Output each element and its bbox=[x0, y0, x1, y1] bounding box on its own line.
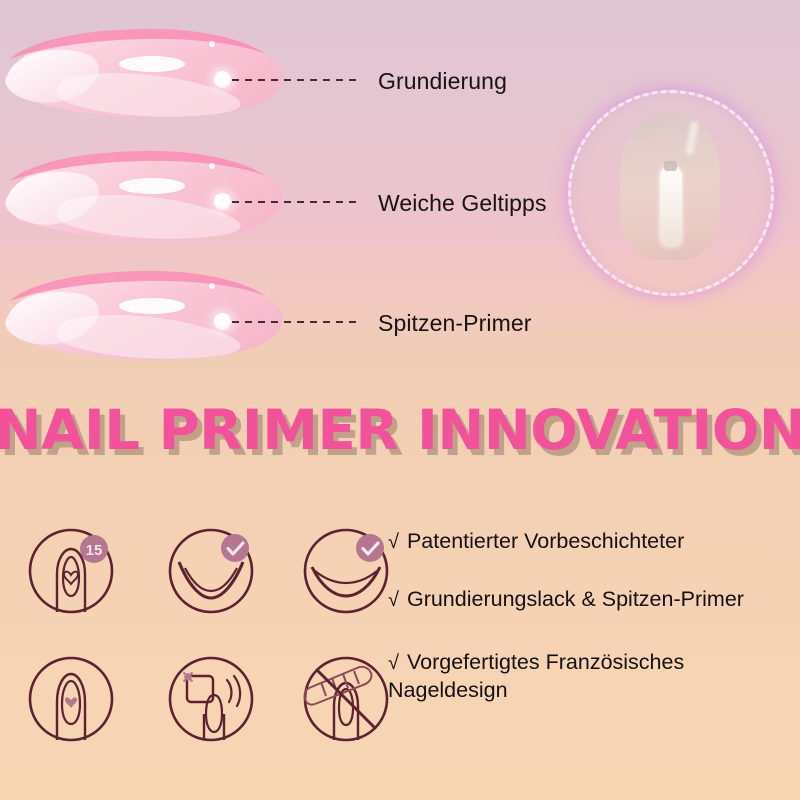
callout-leader-line bbox=[232, 321, 358, 323]
gel-tip-illustration bbox=[0, 18, 290, 128]
no-filing-icon bbox=[301, 654, 391, 744]
check-mark-icon: √ bbox=[388, 652, 399, 674]
flat-tip-check-icon bbox=[301, 526, 391, 616]
callout-leader-line bbox=[232, 201, 358, 203]
bullet-item-3: √ Vorgefertigtes Französisches Nageldesi… bbox=[388, 648, 788, 705]
nail-heart-15-icon: 15 bbox=[26, 526, 116, 616]
callout-dot bbox=[214, 71, 231, 88]
bullet-text: Grundierungslack & Spitzen-Primer bbox=[407, 587, 744, 611]
feature-icon-grid: 15 bbox=[18, 520, 378, 770]
nail-highlight bbox=[660, 165, 682, 247]
gel-tip-row-3 bbox=[0, 260, 360, 380]
gel-tip-illustration bbox=[0, 260, 290, 370]
tip-label-weiche-geltipps: Weiche Geltipps bbox=[378, 190, 547, 217]
bullet-text: Patentierter Vorbeschichteter bbox=[407, 529, 684, 553]
callout-leader-line bbox=[232, 79, 358, 81]
bullet-text: Vorgefertigtes Französisches Nageldesign bbox=[388, 650, 684, 702]
feature-bullet-list: √ Patentierter Vorbeschichteter √ Grundi… bbox=[388, 527, 788, 705]
gel-tip-row-1 bbox=[0, 18, 360, 138]
check-mark-icon: √ bbox=[388, 531, 399, 553]
callout-dot bbox=[214, 193, 231, 210]
bullet-item-2: √ Grundierungslack & Spitzen-Primer bbox=[388, 585, 788, 613]
gel-tip-illustration bbox=[0, 140, 290, 250]
tip-label-spitzen-primer: Spitzen-Primer bbox=[378, 310, 532, 337]
callout-dot bbox=[214, 313, 231, 330]
check-mark-icon: √ bbox=[388, 589, 399, 611]
uv-lamp-cure-icon bbox=[166, 654, 256, 744]
nail-photo bbox=[620, 112, 720, 260]
nail-sparkle bbox=[710, 252, 719, 260]
badge-15-text: 15 bbox=[86, 542, 103, 559]
curved-tip-check-icon bbox=[166, 526, 256, 616]
page-title: NAIL PRIMER INNOVATION bbox=[0, 398, 800, 462]
gel-tip-row-2 bbox=[0, 140, 360, 260]
nail-heart-icon bbox=[26, 654, 116, 744]
bullet-item-1: √ Patentierter Vorbeschichteter bbox=[388, 527, 788, 555]
french-nail-closeup-inset bbox=[568, 90, 774, 296]
promo-infographic: Grundierung Weiche Geltipps Spitzen-Prim… bbox=[0, 0, 800, 800]
tip-label-grundierung: Grundierung bbox=[378, 68, 507, 95]
